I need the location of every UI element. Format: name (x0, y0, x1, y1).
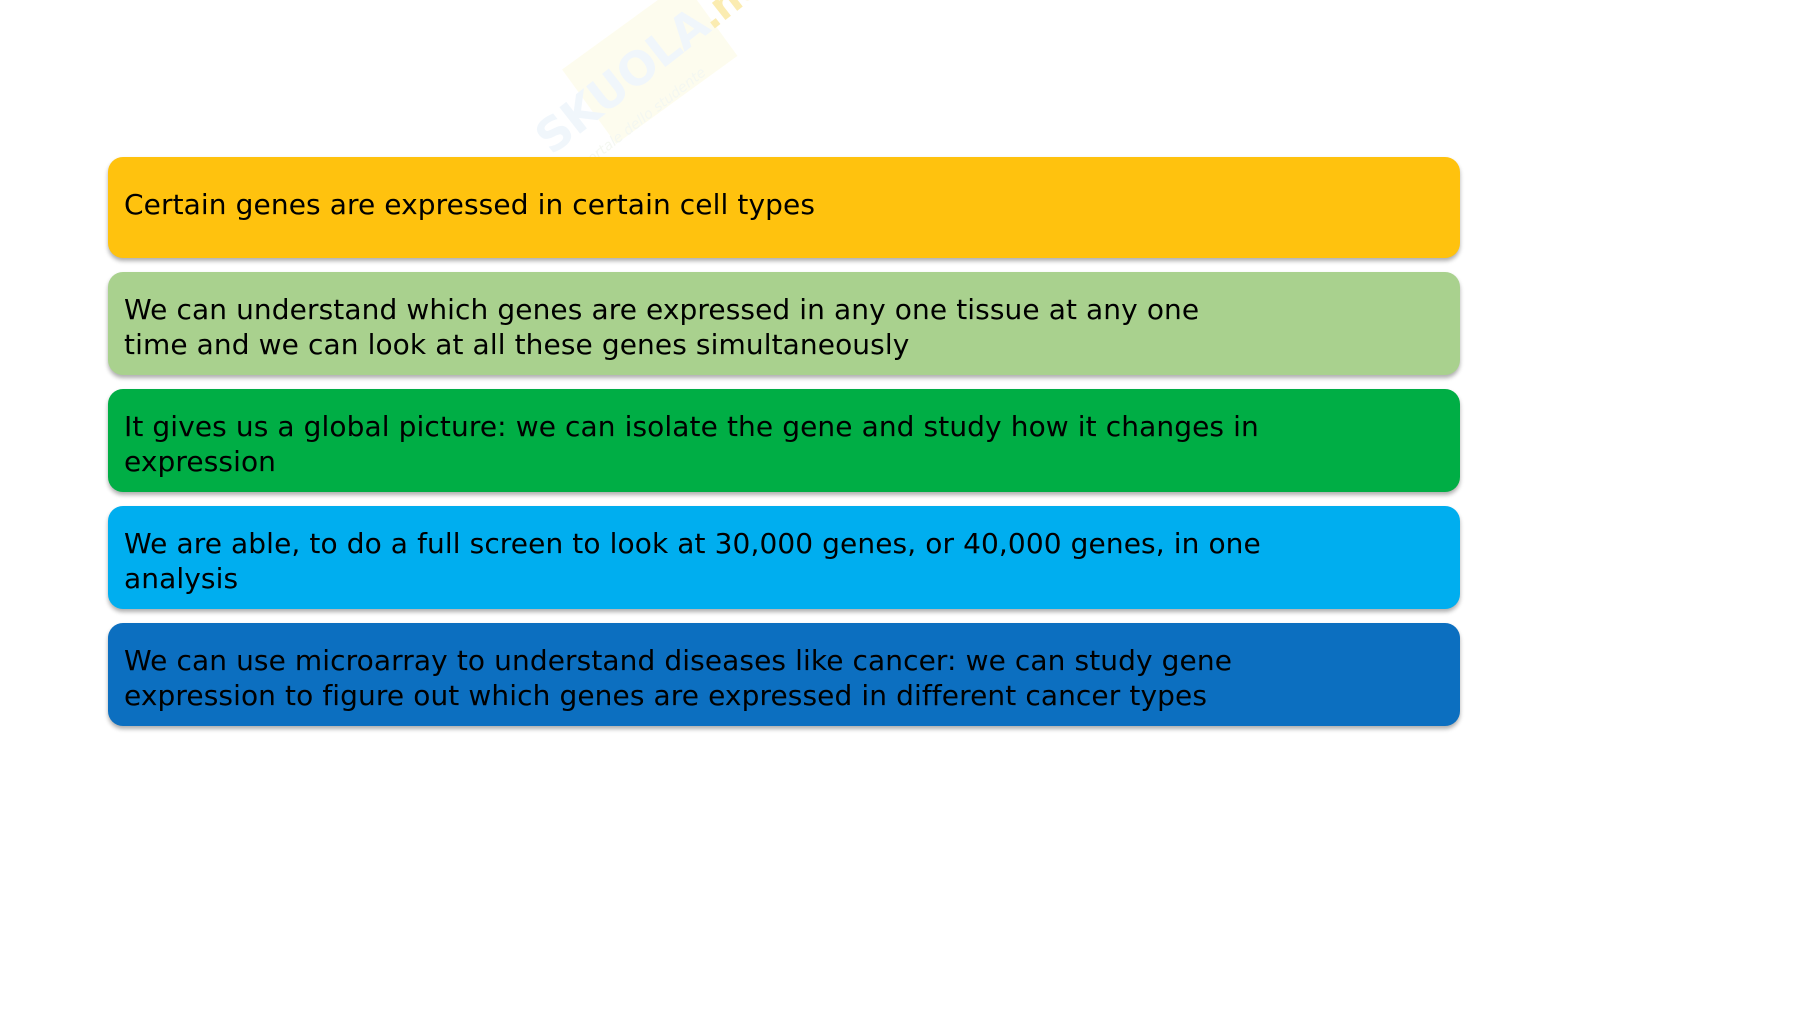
statement-bar-understand-genes: We can understand which genes are expres… (108, 272, 1460, 375)
watermark-tagline: il portale dello studente (568, 1, 791, 180)
statement-line: We can use microarray to understand dise… (124, 643, 1460, 678)
statement-bar-certain-genes: Certain genes are expressed in certain c… (108, 157, 1460, 258)
statement-line: expression to figure out which genes are… (124, 678, 1460, 713)
statement-bar-global-picture: It gives us a global picture: we can iso… (108, 389, 1460, 492)
watermark-wordmark: SKUOLA.net (527, 0, 768, 162)
statement-line: analysis (124, 561, 1460, 596)
statement-line: We can understand which genes are expres… (124, 292, 1460, 327)
statement-line: time and we can look at all these genes … (124, 327, 1460, 362)
watermark-plate (562, 0, 737, 144)
watermark-brand: SKUOLA (525, 0, 718, 165)
statement-bar-microarray-cancer: We can use microarray to understand dise… (108, 623, 1460, 726)
slide-canvas: SKUOLA.net il portale dello studente Cer… (0, 0, 1800, 1013)
statement-line: We are able, to do a full screen to look… (124, 526, 1460, 561)
statement-bar-full-screen: We are able, to do a full screen to look… (108, 506, 1460, 609)
watermark-suffix: .net (689, 0, 785, 39)
statement-line: Certain genes are expressed in certain c… (124, 187, 1460, 222)
statement-bar-list: Certain genes are expressed in certain c… (108, 157, 1460, 740)
statement-line: expression (124, 444, 1460, 479)
statement-line: It gives us a global picture: we can iso… (124, 409, 1460, 444)
